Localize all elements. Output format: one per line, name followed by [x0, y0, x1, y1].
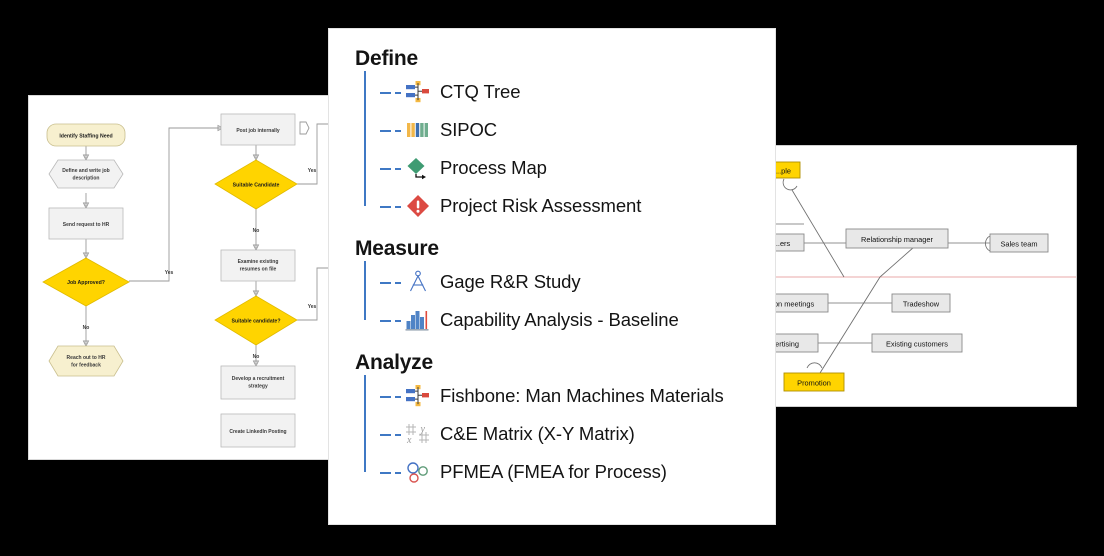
tool-item-label: Fishbone: Man Machines Materials — [440, 385, 724, 407]
tool-item-label: Process Map — [440, 157, 547, 179]
tool-item-pfmea[interactable]: PFMEA (FMEA for Process) — [371, 453, 775, 491]
flowchart-panel[interactable]: Identify Staffing Need Define and write … — [28, 95, 333, 460]
tool-tree-define: CTQ Tree SIPOC — [355, 73, 775, 225]
flow-node-label-line1: Examine existing — [238, 259, 279, 265]
fishbone-category-promotion[interactable]: Promotion — [784, 373, 844, 391]
flow-node-suitable-candidate-decision-2[interactable]: Suitable candidate? — [215, 296, 297, 345]
flow-node-develop-recruitment-strategy[interactable]: Develop a recruitment strategy — [221, 366, 295, 399]
tool-item-sipoc[interactable]: SIPOC — [371, 111, 775, 149]
fishbone-panel[interactable]: ...ple ...ers Relationship manager Sales… — [757, 145, 1077, 407]
edge-label-no-3: No — [253, 354, 260, 360]
flow-node-label-line2: description — [73, 176, 100, 182]
flow-node-examine-existing-resumes[interactable]: Examine existing resumes on file — [221, 250, 295, 281]
flow-node-label: Suitable candidate? — [231, 319, 280, 325]
section-heading-analyze: Analyze — [355, 351, 775, 375]
section-heading-define: Define — [355, 47, 775, 71]
flow-node-identify-staffing-need[interactable]: Identify Staffing Need — [47, 124, 125, 146]
tool-item-process-map[interactable]: Process Map — [371, 149, 775, 187]
flow-node-define-job-description[interactable]: Define and write job description — [49, 160, 123, 188]
fishbone-cause-tradeshow[interactable]: Tradeshow — [892, 294, 950, 312]
ctq-tree-icon — [405, 79, 431, 105]
flow-node-label-line2: resumes on file — [240, 267, 277, 273]
tools-list-panel[interactable]: Define CTQ Tree — [328, 28, 776, 525]
pfmea-circles-icon — [405, 459, 431, 485]
flow-node-post-job-internally[interactable]: Post job internally — [221, 114, 295, 145]
tool-item-fishbone[interactable]: Fishbone: Man Machines Materials — [371, 377, 775, 415]
flow-node-label-line1: Reach out to HR — [67, 355, 106, 361]
tool-item-gage-rr-study[interactable]: Gage R&R Study — [371, 263, 775, 301]
tool-item-label: PFMEA (FMEA for Process) — [440, 461, 667, 483]
tool-item-label: Project Risk Assessment — [440, 195, 641, 217]
flow-node-job-approved-decision[interactable]: Job Approved? — [43, 258, 129, 306]
tool-item-ctq-tree[interactable]: CTQ Tree — [371, 73, 775, 111]
flowchart-canvas: Identify Staffing Need Define and write … — [29, 96, 333, 460]
edge-label-no-2: No — [253, 228, 260, 234]
fishbone-category-label: Promotion — [797, 379, 831, 388]
flow-node-label-line1: Define and write job — [62, 168, 110, 174]
fishbone-cause-label: Relationship manager — [861, 235, 933, 244]
flow-node-label-line1: Develop a recruitment — [232, 376, 285, 382]
flow-node-label: Suitable Candidate — [233, 183, 280, 189]
tool-item-label: SIPOC — [440, 119, 497, 141]
risk-warning-diamond-icon — [405, 193, 431, 219]
flowchart-connectors — [84, 122, 330, 366]
svg-text:x: x — [406, 435, 412, 446]
fishbone-category-label: ...ple — [775, 167, 791, 176]
section-heading-measure: Measure — [355, 237, 775, 261]
flow-node-suitable-candidate-decision-1[interactable]: Suitable Candidate — [215, 160, 297, 209]
tool-item-label: C&E Matrix (X-Y Matrix) — [440, 423, 635, 445]
fishbone-cause-existing-customers[interactable]: Existing customers — [872, 334, 962, 352]
edge-label-yes-3: Yes — [308, 304, 317, 310]
compass-divider-icon — [405, 269, 431, 295]
tool-item-capability-analysis-baseline[interactable]: Capability Analysis - Baseline — [371, 301, 775, 339]
edge-label-yes-1: Yes — [165, 270, 174, 276]
fishbone-cause-label: ...ers — [774, 239, 791, 248]
edge-label-yes-2: Yes — [308, 168, 317, 174]
edge-label-no-1: No — [83, 325, 90, 331]
flow-node-label-line2: strategy — [248, 384, 268, 390]
tool-tree-measure: Gage R&R Study Capability Analysis - Bas… — [355, 263, 775, 339]
process-map-diamond-icon — [405, 155, 431, 181]
flow-node-label: Create LinkedIn Posting — [229, 429, 286, 435]
xy-matrix-icon: y x — [405, 421, 431, 447]
flow-node-send-request-to-hr[interactable]: Send request to HR — [49, 208, 123, 239]
tool-item-ce-matrix[interactable]: y x C&E Matrix (X-Y Matrix) — [371, 415, 775, 453]
flow-node-label: Post job internally — [236, 128, 280, 134]
fishbone-canvas: ...ple ...ers Relationship manager Sales… — [758, 146, 1077, 407]
tool-item-label: Gage R&R Study — [440, 271, 581, 293]
fishbone-cause-label: Tradeshow — [903, 300, 940, 309]
svg-text:y: y — [420, 424, 426, 435]
tool-item-label: CTQ Tree — [440, 81, 520, 103]
histogram-icon — [405, 307, 431, 333]
fishbone-cause-label: Sales team — [1001, 240, 1038, 249]
flow-node-label-line2: for feedback — [71, 363, 101, 369]
tool-tree-analyze: Fishbone: Man Machines Materials y x C&E… — [355, 377, 775, 491]
flow-node-label: Send request to HR — [63, 222, 110, 228]
fishbone-cause-sales-team[interactable]: Sales team — [990, 234, 1048, 252]
flow-node-label: Job Approved? — [67, 280, 105, 286]
fishbone-cause-relationship-manager[interactable]: Relationship manager — [846, 229, 948, 248]
sipoc-bars-icon — [405, 117, 431, 143]
tool-item-label: Capability Analysis - Baseline — [440, 309, 679, 331]
fishbone-icon — [405, 383, 431, 409]
flow-node-label: Identify Staffing Need — [59, 134, 112, 140]
flow-node-reach-out-to-hr[interactable]: Reach out to HR for feedback — [49, 346, 123, 376]
tool-item-project-risk-assessment[interactable]: Project Risk Assessment — [371, 187, 775, 225]
fishbone-cause-label: Existing customers — [886, 340, 948, 349]
flow-node-create-linkedin-posting[interactable]: Create LinkedIn Posting — [221, 414, 295, 447]
